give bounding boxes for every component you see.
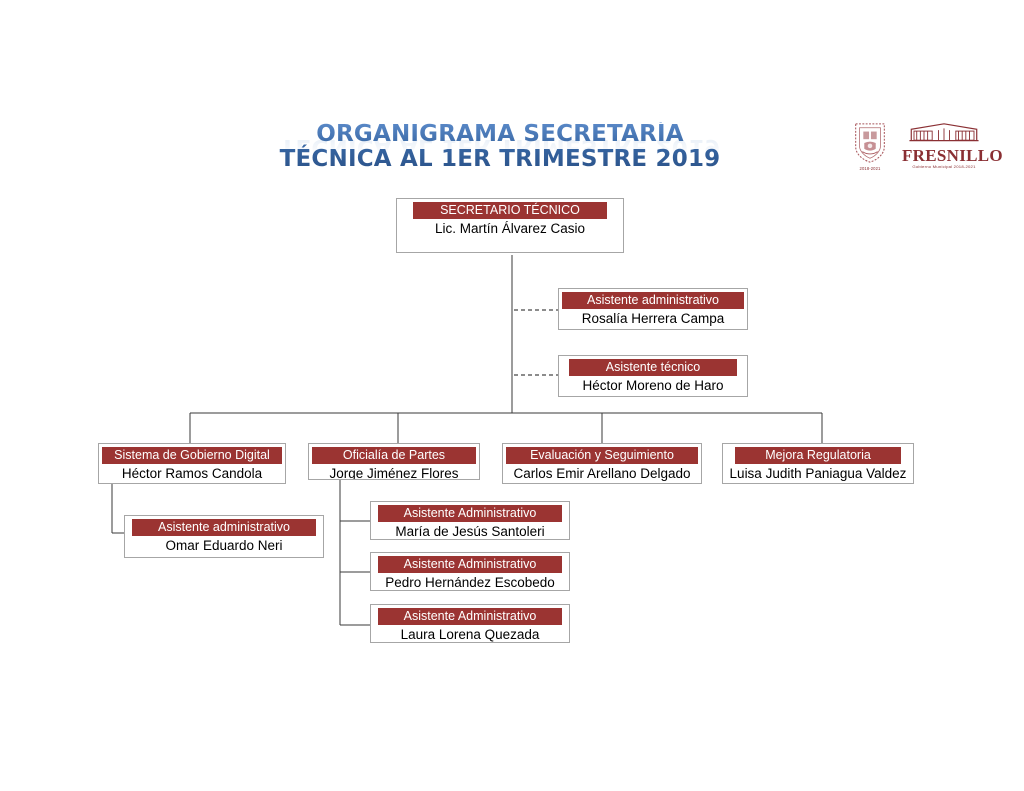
fresnillo-tagline: Gobierno Municipal 2018-2021 bbox=[900, 164, 988, 170]
node-asistente-administrativo-secretario[interactable]: Asistente administrativo Rosalía Herrera… bbox=[558, 288, 748, 330]
node-role: Asistente técnico bbox=[569, 359, 737, 376]
node-evaluacion-y-seguimiento[interactable]: Evaluación y Seguimiento Carlos Emir Are… bbox=[502, 443, 702, 484]
node-name: María de Jesús Santoleri bbox=[374, 522, 566, 540]
node-asistente-administrativo-digital[interactable]: Asistente administrativo Omar Eduardo Ne… bbox=[124, 515, 324, 558]
node-sistema-gobierno-digital[interactable]: Sistema de Gobierno Digital Héctor Ramos… bbox=[98, 443, 286, 484]
node-role: Asistente Administrativo bbox=[378, 505, 562, 522]
node-mejora-regulatoria[interactable]: Mejora Regulatoria Luisa Judith Paniagua… bbox=[722, 443, 914, 484]
node-secretario-tecnico[interactable]: SECRETARIO TÉCNICO Lic. Martín Álvarez C… bbox=[396, 198, 624, 253]
node-role: Evaluación y Seguimiento bbox=[506, 447, 698, 464]
node-name: Jorge Jiménez Flores bbox=[312, 464, 476, 480]
page-title: ORGANIGRAMA SECRETARÍA TÉCNICA AL 1ER TR… bbox=[270, 122, 730, 172]
node-oficialia-de-partes[interactable]: Oficialía de Partes Jorge Jiménez Flores bbox=[308, 443, 480, 480]
node-asistente-administrativo-2[interactable]: Asistente Administrativo Pedro Hernández… bbox=[370, 552, 570, 591]
logo-group: 2018-2021 bbox=[852, 118, 992, 174]
node-name: Carlos Emir Arellano Delgado bbox=[506, 464, 698, 482]
node-role: SECRETARIO TÉCNICO bbox=[413, 202, 607, 219]
node-role: Oficialía de Partes bbox=[312, 447, 476, 464]
organigrama-page: ORGANIGRAMA SECRETARÍA TÉCNICA AL 1ER TR… bbox=[0, 0, 1024, 791]
node-name: Héctor Moreno de Haro bbox=[562, 376, 744, 394]
node-role: Mejora Regulatoria bbox=[735, 447, 901, 464]
node-name: Pedro Hernández Escobedo bbox=[374, 573, 566, 591]
node-role: Sistema de Gobierno Digital bbox=[102, 447, 282, 464]
node-role: Asistente administrativo bbox=[562, 292, 744, 309]
node-name: Rosalía Herrera Campa bbox=[562, 309, 744, 327]
coat-of-arms-icon: 2018-2021 bbox=[852, 122, 888, 170]
node-asistente-administrativo-3[interactable]: Asistente Administrativo Laura Lorena Qu… bbox=[370, 604, 570, 643]
node-name: Omar Eduardo Neri bbox=[128, 536, 320, 554]
node-name: Laura Lorena Quezada bbox=[374, 625, 566, 643]
node-asistente-administrativo-1[interactable]: Asistente Administrativo María de Jesús … bbox=[370, 501, 570, 540]
node-name: Luisa Judith Paniagua Valdez bbox=[726, 464, 910, 482]
building-icon bbox=[902, 122, 986, 142]
node-role: Asistente Administrativo bbox=[378, 608, 562, 625]
node-asistente-tecnico[interactable]: Asistente técnico Héctor Moreno de Haro bbox=[558, 355, 748, 397]
node-role: Asistente administrativo bbox=[132, 519, 316, 536]
fresnillo-wordmark: FRESNILLO bbox=[902, 147, 986, 164]
node-name: Héctor Ramos Candola bbox=[102, 464, 282, 482]
node-name: Lic. Martín Álvarez Casio bbox=[400, 219, 620, 237]
node-role: Asistente Administrativo bbox=[378, 556, 562, 573]
fresnillo-logo: FRESNILLO Gobierno Municipal 2018-2021 bbox=[902, 122, 986, 170]
crest-years: 2018-2021 bbox=[852, 166, 888, 171]
